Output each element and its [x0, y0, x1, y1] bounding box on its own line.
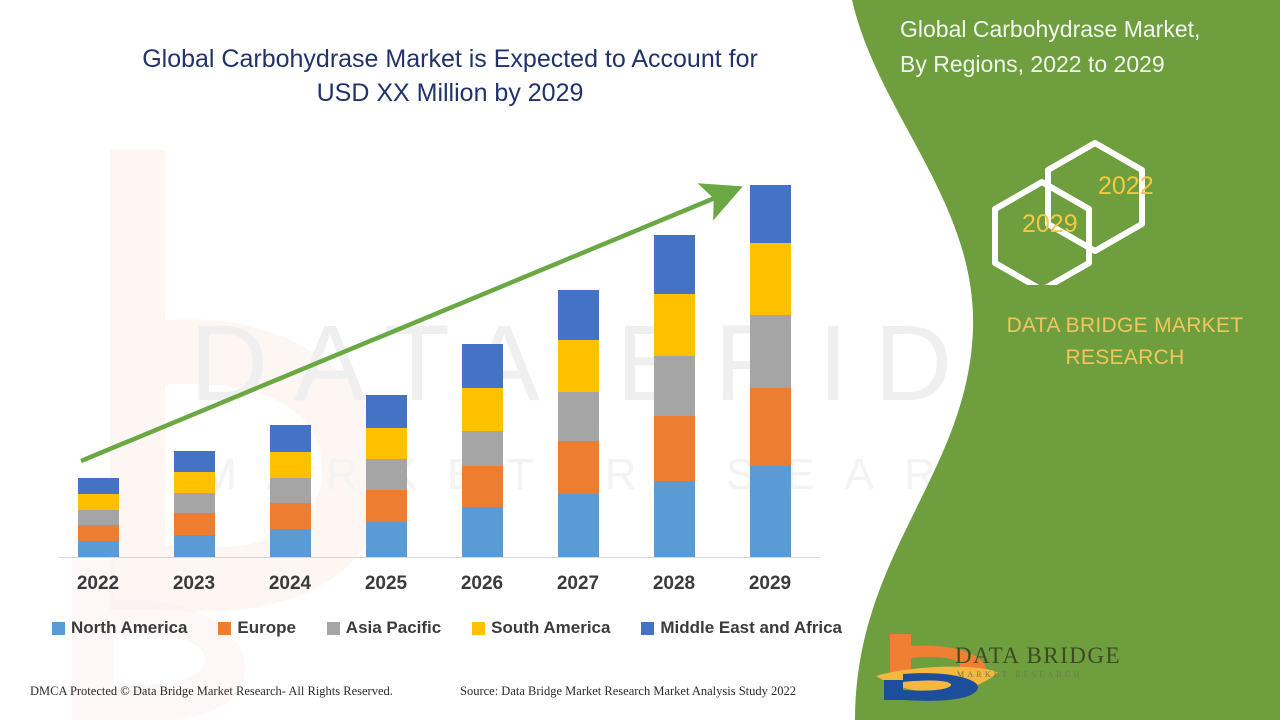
legend-swatch-icon	[218, 622, 231, 635]
page-title: Global Carbohydrase Market is Expected t…	[120, 42, 780, 110]
legend-swatch-icon	[472, 622, 485, 635]
hexagon-badges	[985, 140, 1185, 285]
hexagon-label-end-year: 2029	[1022, 210, 1078, 239]
legend-swatch-icon	[641, 622, 654, 635]
chart-legend: North AmericaEuropeAsia PacificSouth Ame…	[52, 615, 842, 641]
brand-name-line-1: DATA BRIDGE MARKET	[1007, 314, 1244, 337]
legend-label: Europe	[237, 618, 296, 638]
x-axis-label-2028: 2028	[634, 573, 714, 595]
logo-tagline: MARKET RESEARCH	[957, 670, 1082, 679]
panel-title-line-2: By Regions, 2022 to 2029	[900, 51, 1165, 77]
legend-item[interactable]: South America	[472, 618, 610, 638]
panel-title-line-1: Global Carbohydrase Market,	[900, 16, 1200, 42]
legend-item[interactable]: Europe	[218, 618, 296, 638]
legend-label: South America	[491, 618, 610, 638]
legend-swatch-icon	[52, 622, 65, 635]
hexagon-label-start-year: 2022	[1098, 172, 1154, 201]
page-title-line-2: USD XX Million by 2029	[317, 79, 584, 107]
legend-swatch-icon	[327, 622, 340, 635]
x-axis-label-2024: 2024	[250, 573, 330, 595]
panel-title: Global Carbohydrase Market, By Regions, …	[900, 12, 1270, 82]
brand-name: DATA BRIDGE MARKET RESEARCH	[960, 310, 1280, 374]
legend-label: Asia Pacific	[346, 618, 441, 638]
footer-source: Source: Data Bridge Market Research Mark…	[460, 684, 796, 699]
legend-item[interactable]: Asia Pacific	[327, 618, 441, 638]
x-axis-label-2022: 2022	[58, 573, 138, 595]
footer-copyright: DMCA Protected © Data Bridge Market Rese…	[30, 684, 393, 699]
x-axis-label-2023: 2023	[154, 573, 234, 595]
x-axis-label-2027: 2027	[538, 573, 618, 595]
page-title-line-1: Global Carbohydrase Market is Expected t…	[142, 45, 758, 73]
infographic-canvas: DATA BRIDGE MARKET RESEARCH Global Carbo…	[0, 0, 1280, 720]
legend-label: North America	[71, 618, 188, 638]
brand-name-line-2: RESEARCH	[1065, 346, 1184, 369]
x-axis-label-2025: 2025	[346, 573, 426, 595]
x-axis-label-2026: 2026	[442, 573, 522, 595]
logo-wordmark: DATA BRIDGE	[955, 643, 1121, 669]
x-axis-label-2029: 2029	[730, 573, 810, 595]
legend-item[interactable]: North America	[52, 618, 188, 638]
